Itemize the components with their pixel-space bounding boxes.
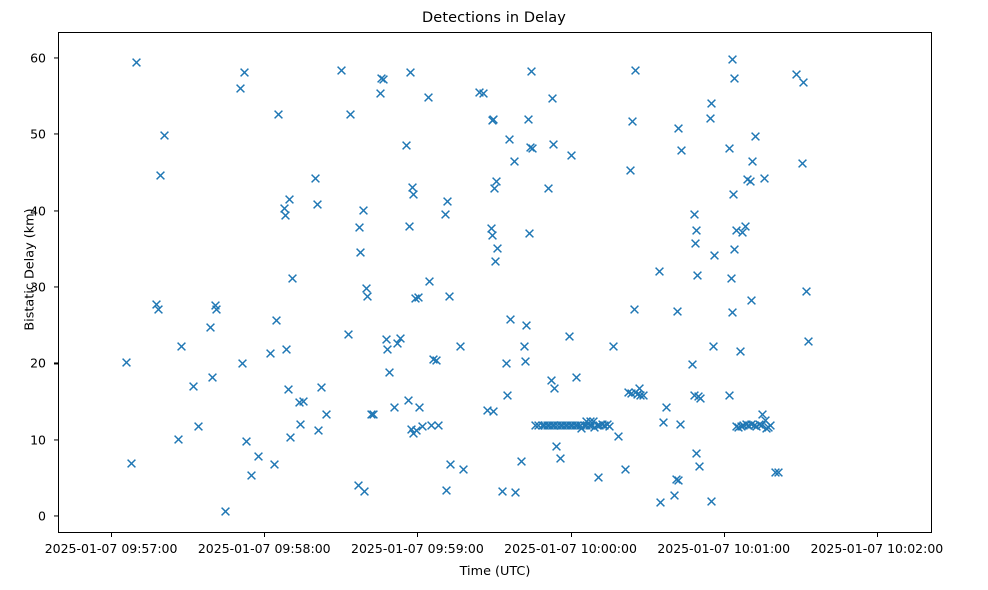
y-tick-label: 20 — [30, 356, 46, 371]
x-tick-mark — [111, 533, 112, 537]
scatter-point — [736, 421, 747, 432]
scatter-point — [691, 225, 702, 236]
scatter-point — [487, 230, 498, 241]
scatter-point — [571, 372, 582, 383]
scatter-point — [543, 183, 554, 194]
scatter-point — [444, 291, 455, 302]
scatter-point — [729, 244, 740, 255]
scatter-point — [575, 420, 586, 431]
scatter-point — [754, 419, 765, 430]
scatter-point — [413, 292, 424, 303]
scatter-point — [310, 173, 321, 184]
scatter-point — [626, 388, 637, 399]
scatter-point — [151, 299, 162, 310]
scatter-point — [426, 420, 437, 431]
scatter-point — [742, 174, 753, 185]
scatter-point — [211, 304, 222, 315]
scatter-point — [584, 420, 595, 431]
scatter-point — [205, 322, 216, 333]
scatter-point — [627, 116, 638, 127]
scatter-point — [544, 420, 555, 431]
scatter-point — [579, 420, 590, 431]
chart-title: Detections in Delay — [0, 10, 988, 26]
x-tick-mark — [571, 533, 572, 537]
scatter-point — [733, 422, 744, 433]
scatter-point — [401, 140, 412, 151]
y-tick-label: 50 — [30, 127, 46, 142]
scatter-point — [313, 425, 324, 436]
scatter-point — [354, 222, 365, 233]
scatter-point — [283, 384, 294, 395]
scatter-point — [505, 314, 516, 325]
scatter-point — [692, 270, 703, 281]
scatter-point — [501, 358, 512, 369]
x-tick-label: 2025-01-07 09:58:00 — [198, 541, 331, 556]
scatter-point — [549, 420, 560, 431]
scatter-point — [557, 420, 568, 431]
scatter-point — [737, 227, 748, 238]
scatter-point — [321, 409, 332, 420]
scatter-point — [727, 307, 738, 318]
x-tick-mark — [877, 533, 878, 537]
scatter-point — [750, 131, 761, 142]
scatter-point — [759, 173, 770, 184]
scatter-point — [671, 474, 682, 485]
scatter-point — [724, 390, 735, 401]
scatter-point — [751, 421, 762, 432]
scatter-point — [524, 228, 535, 239]
scatter-point — [343, 329, 354, 340]
scatter-point — [749, 420, 760, 431]
scatter-point — [589, 422, 600, 433]
scatter-point — [547, 420, 558, 431]
scatter-point — [673, 123, 684, 134]
scatter-point — [220, 506, 231, 517]
scatter-point — [632, 389, 643, 400]
scatter-point — [654, 266, 665, 277]
scatter-point — [564, 331, 575, 342]
scatter-point — [669, 490, 680, 501]
scatter-point — [155, 170, 166, 181]
scatter-point — [280, 210, 291, 221]
scatter-point — [312, 199, 323, 210]
scatter-point — [549, 383, 560, 394]
scatter-point — [798, 77, 809, 88]
scatter-point — [623, 387, 634, 398]
scatter-point — [572, 420, 583, 431]
scatter-point — [246, 470, 257, 481]
scatter-point — [520, 356, 531, 367]
scatter-point — [803, 336, 814, 347]
x-tick-label: 2025-01-07 09:59:00 — [351, 541, 484, 556]
scatter-point — [193, 421, 204, 432]
scatter-point — [131, 57, 142, 68]
scatter-point — [241, 436, 252, 447]
scatter-point — [562, 420, 573, 431]
scatter-point — [586, 420, 597, 431]
scatter-point — [724, 143, 735, 154]
scatter-point — [791, 69, 802, 80]
scatter-point — [516, 456, 527, 467]
scatter-point — [658, 417, 669, 428]
scatter-point — [366, 409, 377, 420]
scatter-point — [635, 390, 646, 401]
scatter-point — [746, 419, 757, 430]
scatter-point — [597, 419, 608, 430]
scatter-point — [695, 393, 706, 404]
scatter-point — [709, 250, 720, 261]
scatter-point — [408, 189, 419, 200]
scatter-point — [630, 387, 641, 398]
scatter-point — [392, 338, 403, 349]
scatter-point — [411, 425, 422, 436]
scatter-point — [384, 367, 395, 378]
scatter-point — [237, 358, 248, 369]
scatter-point — [735, 346, 746, 357]
scatter-point — [594, 420, 605, 431]
scatter-point — [271, 315, 282, 326]
scatter-point — [731, 225, 742, 236]
scatter-point — [689, 209, 700, 220]
scatter-point — [159, 130, 170, 141]
scatter-point — [389, 402, 400, 413]
y-tick-label: 10 — [30, 432, 46, 447]
y-axis: Bistatic Delay (km) 0102030405060 — [0, 32, 58, 533]
scatter-point — [566, 150, 577, 161]
chart-figure: Detections in Delay Bistatic Delay (km) … — [0, 0, 988, 590]
scatter-point — [407, 182, 418, 193]
scatter-point — [269, 459, 280, 470]
scatter-point — [801, 286, 812, 297]
scatter-point — [706, 98, 717, 109]
scatter-point — [705, 113, 716, 124]
scatter-point — [585, 416, 596, 427]
scatter-point — [294, 397, 305, 408]
scatter-point — [620, 464, 631, 475]
scatter-point — [523, 114, 534, 125]
scatter-point — [740, 221, 751, 232]
scatter-point — [613, 431, 624, 442]
scatter-point — [552, 420, 563, 431]
scatter-point — [361, 283, 372, 294]
scatter-point — [687, 359, 698, 370]
scatter-point — [727, 54, 738, 65]
scatter-point — [706, 496, 717, 507]
scatter-point — [510, 487, 521, 498]
scatter-point — [281, 344, 292, 355]
scatter-point — [345, 109, 356, 120]
scatter-point — [630, 65, 641, 76]
scatter-point — [504, 134, 515, 145]
scatter-point — [527, 143, 538, 154]
scatter-point — [509, 156, 520, 167]
scatter-point — [521, 320, 532, 331]
scatter-point — [359, 486, 370, 497]
scatter-point — [629, 304, 640, 315]
scatter-point — [738, 420, 749, 431]
scatter-point — [773, 467, 784, 478]
scatter-point — [745, 176, 756, 187]
scatter-point — [567, 420, 578, 431]
scatter-point — [173, 434, 184, 445]
scatter-point — [488, 406, 499, 417]
scatter-point — [560, 420, 571, 431]
scatter-point — [746, 295, 757, 306]
x-tick-mark — [724, 533, 725, 537]
scatter-point — [284, 194, 295, 205]
scatter-point — [581, 420, 592, 431]
scatter-point — [428, 354, 439, 365]
scatter-point — [491, 176, 502, 187]
scatter-point — [530, 420, 541, 431]
scatter-point — [417, 421, 428, 432]
scatter-point — [441, 485, 452, 496]
scatter-point — [593, 472, 604, 483]
scatter-point — [741, 419, 752, 430]
scatter-point — [542, 420, 553, 431]
scatter-point — [405, 67, 416, 78]
scatter-point — [395, 333, 406, 344]
x-tick-label: 2025-01-07 10:02:00 — [810, 541, 943, 556]
scatter-point — [126, 458, 137, 469]
scatter-point — [287, 273, 298, 284]
scatter-point — [690, 238, 701, 249]
scatter-point — [551, 441, 562, 452]
scatter-point — [547, 93, 558, 104]
scatter-point — [760, 415, 771, 426]
scatter-point — [728, 189, 739, 200]
scatter-point — [406, 424, 417, 435]
scatter-point — [482, 405, 493, 416]
scatter-point — [726, 273, 737, 284]
scatter-point — [770, 467, 781, 478]
scatter-point — [502, 390, 513, 401]
scatter-point — [492, 243, 503, 254]
scatter-point — [490, 256, 501, 267]
scatter-point — [431, 355, 442, 366]
scatter-point — [539, 420, 550, 431]
scatter-point — [765, 420, 776, 431]
scatter-point — [488, 114, 499, 125]
scatter-point — [298, 396, 309, 407]
scatter-point — [581, 416, 592, 427]
scatter-point — [602, 419, 613, 430]
scatter-point — [176, 341, 187, 352]
scatter-point — [608, 341, 619, 352]
scatter-point — [410, 293, 421, 304]
scatter-point — [316, 382, 327, 393]
scatter-point — [376, 73, 387, 84]
scatter-point — [525, 142, 536, 153]
plot-area — [58, 32, 932, 533]
scatter-point — [153, 304, 164, 315]
scatter-point — [731, 421, 742, 432]
scatter-point — [353, 480, 364, 491]
scatter-point — [381, 334, 392, 345]
scatter-point — [414, 402, 425, 413]
scatter-point — [548, 139, 559, 150]
y-tick-label: 0 — [38, 509, 46, 524]
scatter-point — [403, 395, 414, 406]
scatter-point — [546, 375, 557, 386]
scatter-point — [570, 420, 581, 431]
x-axis: Time (UTC) 2025-01-07 09:57:002025-01-07… — [58, 533, 932, 590]
scatter-point — [537, 420, 548, 431]
scatter-point — [689, 390, 700, 401]
scatter-point — [747, 156, 758, 167]
scatter-point — [565, 420, 576, 431]
scatter-point — [676, 145, 687, 156]
scatter-point — [555, 453, 566, 464]
scatter-point — [526, 66, 537, 77]
scatter-point — [336, 65, 347, 76]
scatter-point — [693, 391, 704, 402]
scatter-point — [295, 419, 306, 430]
scatter-point — [121, 357, 132, 368]
scatter-point — [655, 497, 666, 508]
scatter-point — [691, 448, 702, 459]
scatter-point — [576, 423, 587, 434]
x-tick-label: 2025-01-07 10:00:00 — [504, 541, 637, 556]
scatter-point — [458, 464, 469, 475]
scatter-point — [757, 409, 768, 420]
scatter-point — [355, 247, 366, 258]
y-tick-label: 30 — [30, 280, 46, 295]
scatter-point — [235, 83, 246, 94]
scatter-point — [207, 372, 218, 383]
scatter-point — [638, 390, 649, 401]
x-tick-mark — [417, 533, 418, 537]
scatter-point — [455, 341, 466, 352]
scatter-point — [672, 306, 683, 317]
scatter-point — [673, 475, 684, 486]
scatter-point — [487, 115, 498, 126]
x-axis-label: Time (UTC) — [58, 564, 932, 579]
scatter-point — [424, 276, 435, 287]
x-tick-label: 2025-01-07 10:01:00 — [657, 541, 790, 556]
scatter-point — [188, 381, 199, 392]
scatter-point — [382, 344, 393, 355]
scatter-point — [404, 221, 415, 232]
scatter-point — [478, 88, 489, 99]
scatter-point — [555, 420, 566, 431]
scatter-point — [675, 419, 686, 430]
scatter-point — [445, 459, 456, 470]
scatter-point — [761, 423, 772, 434]
scatter-point — [358, 205, 369, 216]
scatter-point — [442, 196, 453, 207]
scatter-point — [273, 109, 284, 120]
scatter-point — [368, 409, 379, 420]
scatter-point — [486, 223, 497, 234]
scatter-point — [210, 300, 221, 311]
scatter-point — [433, 420, 444, 431]
scatter-point — [285, 432, 296, 443]
scatter-point — [694, 461, 705, 472]
x-tick-mark — [264, 533, 265, 537]
scatter-point — [533, 420, 544, 431]
scatter-point — [756, 420, 767, 431]
scatter-point — [604, 421, 615, 432]
scatter-point — [634, 383, 645, 394]
scatter-point — [763, 422, 774, 433]
scatter-point — [497, 486, 508, 497]
scatter-point — [729, 73, 740, 84]
scatter-point — [239, 67, 250, 78]
scatter-point — [489, 183, 500, 194]
y-tick-label: 40 — [30, 203, 46, 218]
scatter-point — [362, 291, 373, 302]
scatter-point — [440, 209, 451, 220]
scatter-point — [408, 428, 419, 439]
scatter-point — [599, 420, 610, 431]
scatter-point — [253, 451, 264, 462]
scatter-point — [797, 158, 808, 169]
x-tick-label: 2025-01-07 09:57:00 — [45, 541, 178, 556]
scatter-point — [708, 341, 719, 352]
scatter-point — [474, 87, 485, 98]
scatter-point — [625, 165, 636, 176]
y-tick-label: 60 — [30, 50, 46, 65]
scatter-point — [519, 341, 530, 352]
scatter-point — [592, 420, 603, 431]
scatter-point — [378, 74, 389, 85]
scatter-point — [588, 416, 599, 427]
scatter-points-layer — [59, 33, 931, 532]
scatter-point — [279, 203, 290, 214]
scatter-point — [265, 348, 276, 359]
scatter-point — [661, 402, 672, 413]
scatter-point — [423, 92, 434, 103]
scatter-point — [375, 88, 386, 99]
scatter-point — [743, 420, 754, 431]
